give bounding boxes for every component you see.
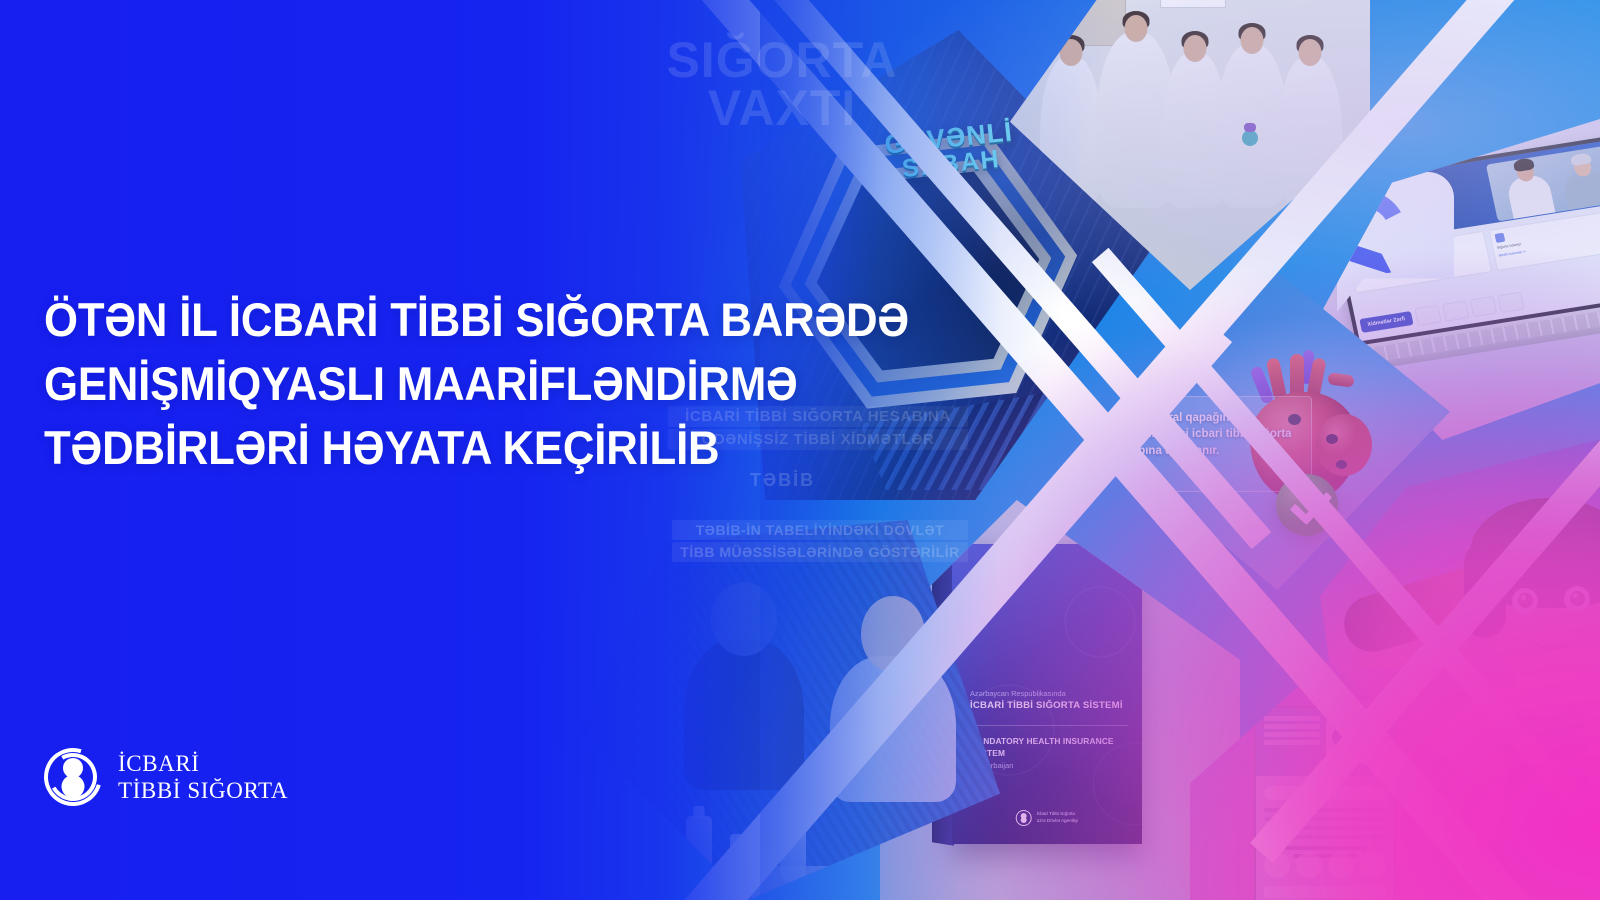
ghost-text-state-institutions: TƏBİB-İN TABELİYİNDƏKİ DÖVLƏT TİBB MÜƏSS…	[672, 518, 968, 564]
brand-logo-line2: TİBBİ SIĞORTA	[118, 777, 288, 804]
headline-line-1: ÖTƏN İL İCBARİ TİBBİ SIĞORTA BARƏDƏ	[44, 288, 788, 352]
brand-logo-text: İCBARİ TİBBİ SIĞORTA	[118, 750, 288, 804]
headline-line-3: TƏDBİRLƏRİ HƏYATA KEÇİRİLİB	[44, 416, 788, 480]
icbari-tibbi-sigorta-emblem-icon	[44, 748, 102, 806]
headline-line-2: GENİŞMİQYASLI MAARİFLƏNDİRMƏ	[44, 352, 788, 416]
brand-logo-line1: İCBARİ	[118, 750, 288, 777]
brand-logo[interactable]: İCBARİ TİBBİ SIĞORTA	[44, 748, 288, 806]
ghost-text-sigorta-vaxti: SIĞORTA VAXTI	[612, 36, 952, 132]
news-banner: GÜVƏNLİ SABAH	[0, 0, 1600, 900]
page-title: ÖTƏN İL İCBARİ TİBBİ SIĞORTA BARƏDƏ GENİ…	[44, 288, 844, 480]
